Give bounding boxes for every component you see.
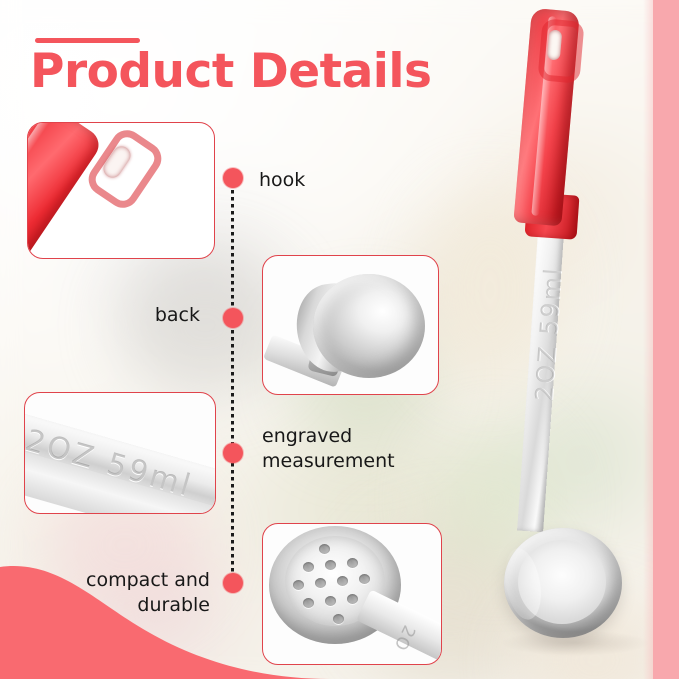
drain-hole <box>337 576 348 586</box>
drain-hole <box>319 544 330 554</box>
detail-card-perforated-bowl[interactable]: 2O <box>262 523 442 665</box>
callout-dot-engraved <box>223 443 243 463</box>
drain-hole <box>347 558 358 568</box>
drain-hole <box>303 562 314 572</box>
drain-hole <box>325 560 336 570</box>
hero-product-image[interactable]: 2OZ 59ml <box>482 0 662 679</box>
detail-card-engraved-measurement[interactable]: 2OZ 59ml <box>24 392 216 514</box>
callout-label-back: back <box>60 303 200 328</box>
callout-dot-hook <box>223 168 243 188</box>
callout-label-engraved-measurement: engraved measurement <box>262 424 452 474</box>
drain-hole <box>315 578 326 588</box>
drain-hole <box>293 580 304 590</box>
product-details-infographic: Product Details hook back engraved measu… <box>0 0 679 679</box>
hero-drop-shadow <box>500 630 650 656</box>
page-title: Product Details <box>30 44 431 99</box>
title-accent-rule <box>35 38 140 43</box>
drain-hole <box>359 574 370 584</box>
drain-hole <box>325 596 336 606</box>
spoon-bowl-back <box>313 274 425 378</box>
callout-label-hook: hook <box>259 168 305 193</box>
drain-hole <box>333 614 344 624</box>
detail-card-bowl-back[interactable] <box>262 255 439 395</box>
callout-label-compact-durable: compact and durable <box>10 568 210 618</box>
callout-dot-back <box>223 308 243 328</box>
connector-dotted-line <box>231 176 234 590</box>
hero-hook-hole-ring <box>537 18 584 83</box>
callout-dot-compact <box>223 573 243 593</box>
drain-hole <box>303 598 314 608</box>
drain-hole <box>347 594 358 604</box>
detail-card-handle-hook[interactable] <box>27 122 215 259</box>
